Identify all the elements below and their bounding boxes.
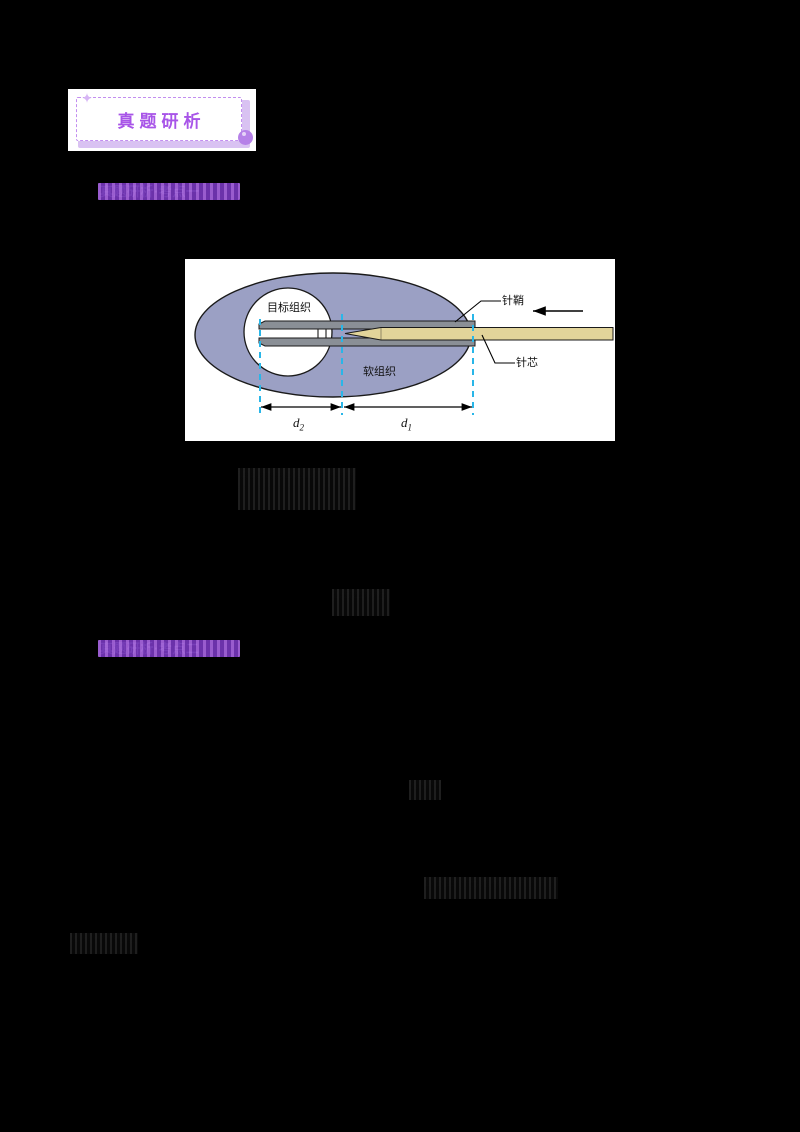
formula-block-4: 公式四（已遮蔽）	[424, 877, 558, 899]
dimension-label-d1: d1	[401, 415, 412, 433]
biopsy-needle-insertion-diagram: 目标组织 软组织 针鞘 针芯 d2 d1	[185, 259, 615, 441]
dimension-label-d2: d2	[293, 415, 304, 433]
section-heading-1: 真题研析·考点一	[98, 183, 240, 200]
label-soft-tissue: 软组织	[363, 363, 396, 379]
page-title: 真题研析	[113, 107, 206, 132]
dimension-d1-subscript: 1	[408, 423, 413, 433]
badge-card: 真题研析 ✦	[68, 89, 256, 151]
dimension-d2-subscript: 2	[300, 423, 305, 433]
formula-block-3: 公式三（已遮蔽）	[409, 780, 441, 800]
formula-block-5: 公式五（已遮蔽）	[70, 933, 138, 954]
formula-block-2: 公式二（已遮蔽）	[332, 589, 390, 616]
label-needle-core: 针芯	[516, 354, 538, 370]
page-root: 真题研析 ✦ 真题研析·考点一	[0, 0, 800, 1132]
badge-dot-decoration	[238, 130, 253, 145]
exam-analysis-badge: 真题研析 ✦	[68, 89, 256, 159]
label-target-tissue: 目标组织	[267, 299, 311, 315]
section-heading-2: 真题研析·考点二	[98, 640, 240, 657]
needle-core-shaft	[345, 328, 613, 341]
badge-inner-frame: 真题研析	[76, 97, 242, 141]
formula-block-1: 公式一（已遮蔽）	[238, 468, 356, 510]
label-needle-sheath: 针鞘	[502, 292, 524, 308]
